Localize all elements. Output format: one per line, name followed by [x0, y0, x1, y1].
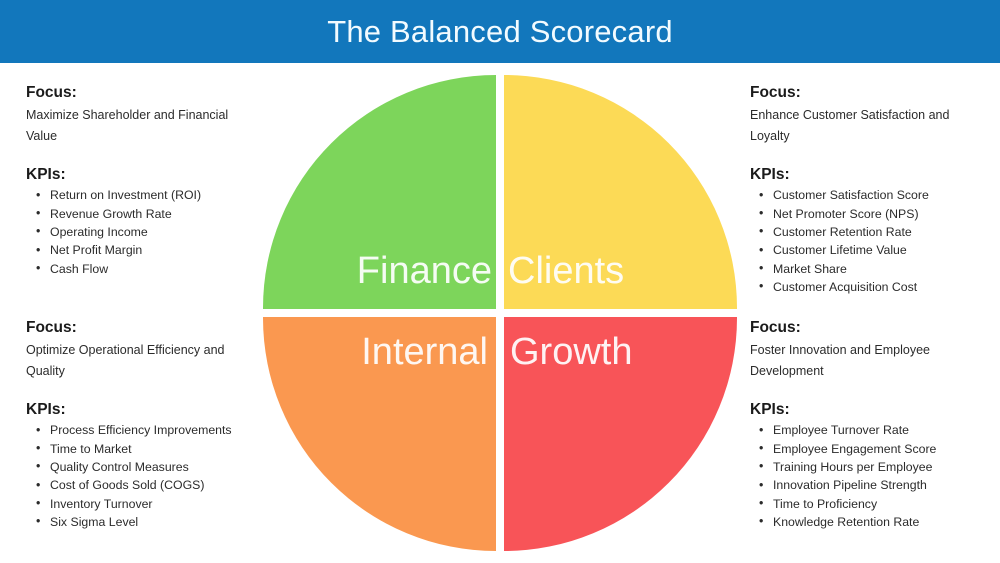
list-item: Return on Investment (ROI) [50, 186, 256, 204]
list-item: Net Profit Margin [50, 241, 256, 259]
list-item: Innovation Pipeline Strength [773, 476, 980, 494]
kpis-heading-clients: KPIs: [750, 165, 980, 184]
panel-growth: Focus: Foster Innovation and Employee De… [750, 318, 980, 531]
focus-heading-clients: Focus: [750, 83, 980, 102]
quadrant-label-finance: Finance [357, 252, 492, 290]
list-item: Employee Turnover Rate [773, 421, 980, 439]
focus-text-growth: Foster Innovation and Employee Developme… [750, 340, 980, 381]
quadrant-finance[interactable]: Finance [263, 75, 496, 309]
focus-text-clients: Enhance Customer Satisfaction and Loyalt… [750, 105, 980, 146]
panel-internal: Focus: Optimize Operational Efficiency a… [26, 318, 256, 531]
list-item: Knowledge Retention Rate [773, 513, 980, 531]
kpi-list-internal: Process Efficiency Improvements Time to … [26, 421, 256, 531]
list-item: Customer Acquisition Cost [773, 278, 980, 296]
list-item: Customer Lifetime Value [773, 241, 980, 259]
balanced-scorecard-wheel: Finance Clients Internal Growth [263, 75, 737, 551]
list-item: Cost of Goods Sold (COGS) [50, 476, 256, 494]
focus-heading-internal: Focus: [26, 318, 256, 337]
list-item: Customer Retention Rate [773, 223, 980, 241]
list-item: Training Hours per Employee [773, 458, 980, 476]
focus-heading-growth: Focus: [750, 318, 980, 337]
focus-text-internal: Optimize Operational Efficiency and Qual… [26, 340, 256, 381]
list-item: Operating Income [50, 223, 256, 241]
list-item: Time to Market [50, 440, 256, 458]
scorecard-canvas: Finance Clients Internal Growth Focus: M… [0, 63, 1000, 563]
list-item: Customer Satisfaction Score [773, 186, 980, 204]
quadrant-label-clients: Clients [508, 252, 624, 290]
list-item: Cash Flow [50, 260, 256, 278]
page-title: The Balanced Scorecard [327, 16, 673, 47]
quadrant-label-internal: Internal [361, 333, 488, 371]
focus-text-finance: Maximize Shareholder and Financial Value [26, 105, 256, 146]
list-item: Six Sigma Level [50, 513, 256, 531]
list-item: Market Share [773, 260, 980, 278]
kpi-list-clients: Customer Satisfaction Score Net Promoter… [750, 186, 980, 296]
kpis-heading-growth: KPIs: [750, 400, 980, 419]
kpi-list-growth: Employee Turnover Rate Employee Engageme… [750, 421, 980, 531]
list-item: Process Efficiency Improvements [50, 421, 256, 439]
quadrant-growth[interactable]: Growth [504, 317, 737, 551]
list-item: Net Promoter Score (NPS) [773, 205, 980, 223]
kpis-heading-internal: KPIs: [26, 400, 256, 419]
panel-clients: Focus: Enhance Customer Satisfaction and… [750, 83, 980, 296]
quadrant-clients[interactable]: Clients [504, 75, 737, 309]
kpi-list-finance: Return on Investment (ROI) Revenue Growt… [26, 186, 256, 278]
focus-heading-finance: Focus: [26, 83, 256, 102]
list-item: Quality Control Measures [50, 458, 256, 476]
list-item: Employee Engagement Score [773, 440, 980, 458]
page-header: The Balanced Scorecard [0, 0, 1000, 63]
list-item: Time to Proficiency [773, 495, 980, 513]
list-item: Inventory Turnover [50, 495, 256, 513]
list-item: Revenue Growth Rate [50, 205, 256, 223]
quadrant-label-growth: Growth [510, 333, 632, 371]
panel-finance: Focus: Maximize Shareholder and Financia… [26, 83, 256, 278]
kpis-heading-finance: KPIs: [26, 165, 256, 184]
quadrant-internal[interactable]: Internal [263, 317, 496, 551]
